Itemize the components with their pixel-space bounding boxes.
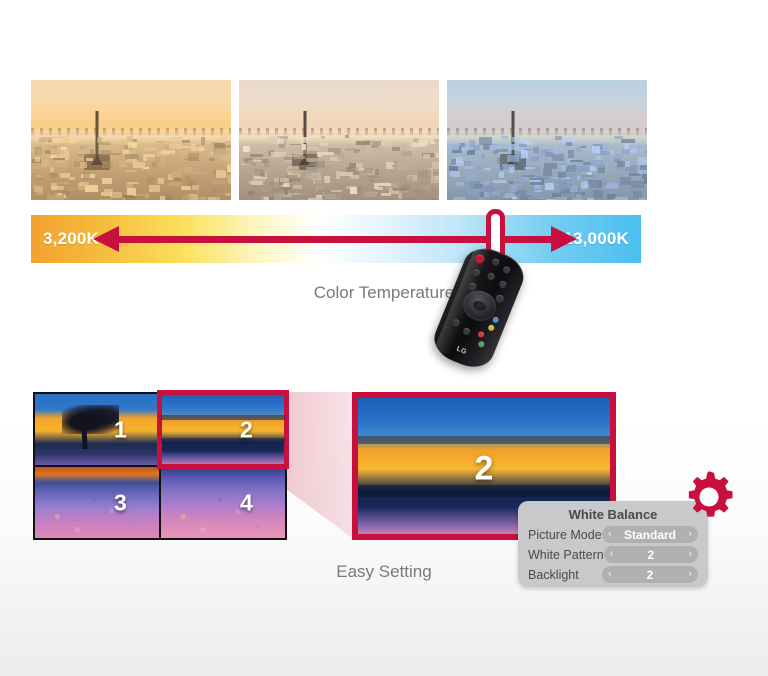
tree-crown — [62, 405, 119, 433]
zoom-connector-wedge — [287, 392, 355, 540]
setting-stepper[interactable]: ‹ Standard › — [602, 526, 698, 543]
arrow-left-icon — [93, 226, 119, 252]
panel-title: White Balance — [528, 507, 698, 522]
panel-number: 3 — [114, 489, 127, 516]
chevron-right-icon[interactable]: › — [688, 529, 692, 540]
panel-number: 1 — [114, 416, 127, 443]
chevron-right-icon[interactable]: › — [688, 569, 692, 580]
color-temperature-caption: Color Temperature — [0, 283, 768, 303]
setting-stepper[interactable]: ‹ 2 › — [604, 546, 698, 563]
setting-label: Picture Mode — [528, 528, 602, 542]
grid-panel-2[interactable]: 2 — [161, 394, 285, 465]
setting-row-picture-mode: Picture Mode ‹ Standard › — [528, 526, 698, 543]
thumbnail-cool-cityscape — [447, 80, 647, 200]
paint-streak — [161, 438, 285, 443]
building-blocks — [447, 80, 647, 200]
setting-label: Backlight — [528, 568, 579, 582]
thumbnail-warm-cityscape — [31, 80, 231, 200]
promo-stage: 3,200K 13,000K Color Temperature LG 1 — [0, 0, 768, 676]
color-temperature-thumbnails — [31, 80, 647, 200]
easy-setting-grid: 1 2 3 4 — [33, 392, 287, 540]
building-blocks — [31, 80, 231, 200]
white-balance-panel: White Balance Picture Mode ‹ Standard › … — [518, 501, 708, 587]
thumbnail-neutral-cityscape — [239, 80, 439, 200]
paint-texture — [161, 467, 285, 538]
min-temperature-label: 3,200K — [43, 229, 99, 249]
gear-icon[interactable] — [681, 469, 737, 525]
setting-value: 2 — [612, 568, 689, 582]
panel-number: 4 — [240, 489, 253, 516]
arrow-right-icon — [551, 226, 577, 252]
paint-streak — [358, 436, 610, 444]
setting-row-white-pattern: White Pattern ‹ 2 › — [528, 546, 698, 563]
setting-row-backlight: Backlight ‹ 2 › — [528, 566, 698, 583]
chevron-right-icon[interactable]: › — [688, 549, 692, 560]
setting-value: 2 — [613, 548, 688, 562]
panel-number: 2 — [240, 416, 253, 443]
color-temperature-slider[interactable]: 3,200K 13,000K — [31, 215, 641, 263]
setting-value: Standard — [612, 528, 689, 542]
building-blocks — [239, 80, 439, 200]
grid-panel-3[interactable]: 3 — [35, 467, 159, 538]
grid-panel-4[interactable]: 4 — [161, 467, 285, 538]
enlarged-panel-number: 2 — [475, 449, 494, 488]
setting-label: White Pattern — [528, 548, 604, 562]
setting-stepper[interactable]: ‹ 2 › — [602, 566, 698, 583]
paint-texture — [35, 467, 159, 538]
paint-streak — [161, 415, 285, 420]
grid-panel-1[interactable]: 1 — [35, 394, 159, 465]
